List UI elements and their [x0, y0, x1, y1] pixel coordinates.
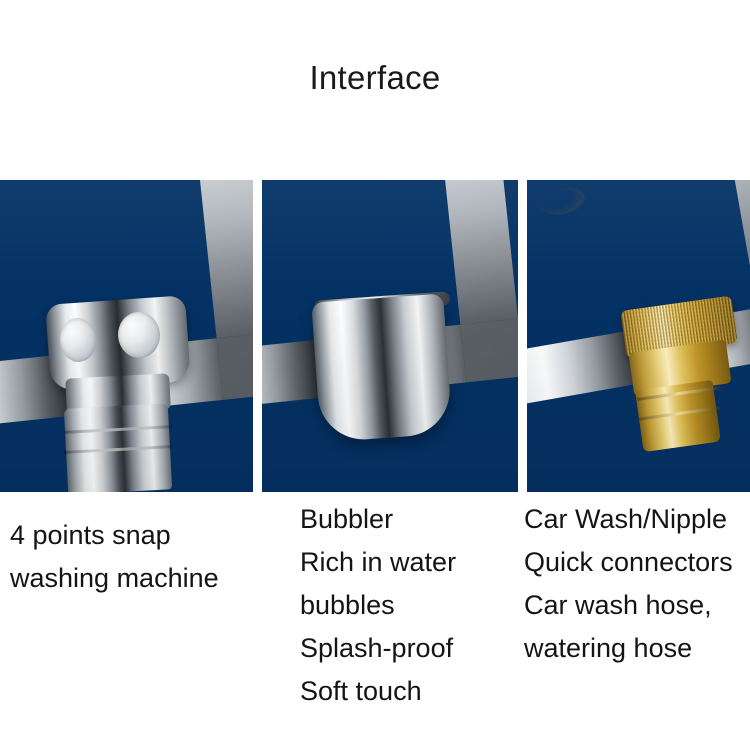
caption-line: Splash-proof: [300, 627, 456, 670]
snap-collar-icon: [45, 295, 191, 391]
caption-line: Car wash hose,: [524, 584, 733, 627]
brass-connector-body-icon: [628, 339, 731, 396]
product-image-car-wash-nipple: [527, 180, 750, 492]
caption-4-points-snap: 4 points snap washing machine: [10, 514, 219, 600]
faucet-spout-icon: [0, 180, 253, 429]
brass-groove-icon: [637, 406, 721, 421]
caption-line: Soft touch: [300, 670, 456, 713]
caption-line: Car Wash/Nipple: [524, 498, 733, 541]
faucet-spout-icon: [262, 180, 518, 410]
caption-car-wash-nipple: Car Wash/Nipple Quick connectors Car was…: [524, 498, 733, 670]
product-interface-infographic: Interface: [0, 0, 750, 750]
caption-line: washing machine: [10, 557, 219, 600]
adapter-barrel-icon: [64, 403, 172, 492]
product-image-4-points-snap: [0, 180, 253, 492]
barrel-ring-icon: [64, 425, 172, 434]
caption-line: Bubbler: [300, 498, 456, 541]
barrel-ring-icon: [64, 445, 172, 454]
bubbler-cap-icon: [311, 294, 452, 443]
caption-line: Quick connectors: [524, 541, 733, 584]
bubbler-cap-lip-icon: [314, 291, 451, 314]
brass-knurled-ring-icon: [620, 295, 738, 358]
brass-nipple-tip-icon: [635, 380, 721, 452]
faucet-spout-icon: [527, 180, 750, 405]
caption-columns: 4 points snap washing machine Bubbler Ri…: [0, 492, 750, 750]
product-image-panels: [0, 180, 750, 492]
spout-logo-icon: [537, 184, 587, 219]
caption-bubbler: Bubbler Rich in water bubbles Splash-pro…: [300, 498, 456, 713]
caption-line: bubbles: [300, 584, 456, 627]
page-title: Interface: [0, 58, 750, 98]
product-image-bubbler: [262, 180, 518, 492]
snap-button-icon: [116, 311, 161, 360]
caption-line: watering hose: [524, 627, 733, 670]
caption-line: Rich in water: [300, 541, 456, 584]
snap-button-icon: [59, 317, 98, 363]
adapter-nut-icon: [65, 373, 171, 414]
brass-groove-icon: [637, 386, 721, 401]
caption-line: 4 points snap: [10, 514, 219, 557]
